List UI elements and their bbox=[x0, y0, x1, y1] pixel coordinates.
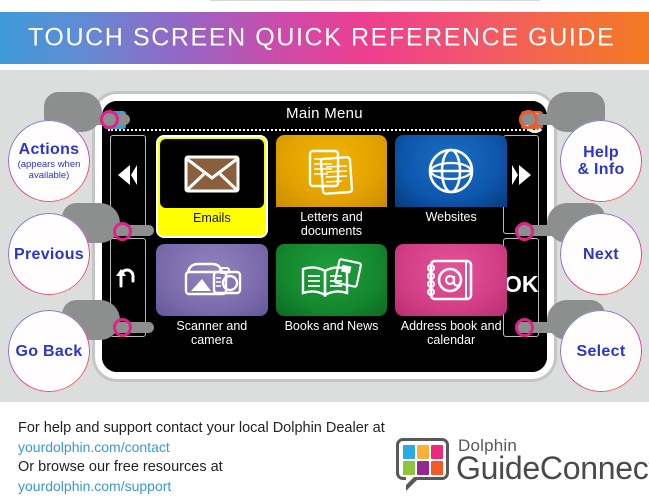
page-title: TOUCH SCREEN QUICK REFERENCE GUIDE bbox=[28, 24, 615, 53]
callout-next: Next bbox=[560, 213, 642, 295]
callout-go-back: Go Back bbox=[8, 310, 90, 392]
target-ring-go-back bbox=[113, 318, 132, 337]
tile-label: Emails bbox=[158, 208, 266, 236]
tile-label: Letters and documents bbox=[276, 207, 388, 238]
logo-swatch-5 bbox=[431, 461, 443, 475]
top-white-strip bbox=[0, 0, 649, 12]
callout-title: Next bbox=[583, 246, 619, 263]
target-ring-previous bbox=[113, 222, 132, 241]
callout-title: Help bbox=[583, 144, 619, 161]
reference-guide-page: TOUCH SCREEN QUICK REFERENCE GUIDE Main … bbox=[0, 0, 649, 502]
logo-swatch-4 bbox=[417, 461, 429, 475]
logo-swatch-3 bbox=[403, 461, 415, 475]
tile-label: Address book and calendar bbox=[395, 316, 507, 347]
device-frame: Main Menu bbox=[95, 94, 554, 379]
main-menu-tile-grid: Emails bbox=[156, 135, 507, 347]
callout-actions: Actions (appears when available) bbox=[8, 120, 90, 202]
guideconnect-logo: Dolphin GuideConnect bbox=[396, 432, 640, 492]
triangle-left-icon bbox=[111, 164, 145, 190]
book-news-icon bbox=[276, 244, 388, 316]
tile-letters-and-documents[interactable]: Letters and documents bbox=[276, 135, 388, 238]
target-ring-select bbox=[515, 318, 534, 337]
logo-swatch-2 bbox=[431, 445, 443, 459]
tile-scanner-and-camera[interactable]: Scanner and camera bbox=[156, 244, 268, 347]
logo-swatch-0 bbox=[403, 445, 415, 459]
tile-websites[interactable]: Websites bbox=[395, 135, 507, 238]
focus-dotted-border bbox=[108, 129, 541, 131]
top-hairline-rule bbox=[210, 0, 540, 1]
logo-bubble-tail bbox=[406, 477, 420, 491]
callout-title: Previous bbox=[14, 246, 84, 263]
tile-emails[interactable]: Emails bbox=[156, 135, 268, 238]
documents-icon bbox=[276, 135, 388, 207]
footer-link-contact[interactable]: yourdolphin.com/contact bbox=[18, 439, 170, 455]
callout-previous: Previous bbox=[8, 213, 90, 295]
scanner-camera-icon bbox=[156, 244, 268, 316]
logo-brand-large: GuideConnect bbox=[456, 450, 649, 487]
globe-icon bbox=[395, 135, 507, 207]
screen-title: Main Menu bbox=[102, 105, 547, 122]
tile-address-book-and-calendar[interactable]: Address book and calendar bbox=[395, 244, 507, 347]
footer-link-support[interactable]: yourdolphin.com/support bbox=[18, 478, 171, 494]
tile-label: Books and News bbox=[276, 316, 388, 347]
undo-arrow-icon bbox=[111, 267, 145, 293]
target-ring-help bbox=[519, 110, 538, 129]
triangle-right-icon bbox=[504, 164, 538, 190]
tile-label: Websites bbox=[395, 207, 507, 238]
tile-label: Scanner and camera bbox=[156, 316, 268, 347]
ok-label: OK bbox=[504, 273, 538, 296]
callout-select: Select bbox=[560, 310, 642, 392]
tile-books-and-news[interactable]: Books and News bbox=[276, 244, 388, 347]
address-book-icon bbox=[395, 244, 507, 316]
target-ring-actions bbox=[100, 110, 119, 129]
callout-help-info: Help & Info bbox=[560, 120, 642, 202]
device-screen: Main Menu bbox=[102, 101, 547, 372]
logo-swatch-1 bbox=[417, 445, 429, 459]
callout-title: Select bbox=[577, 343, 626, 360]
callout-subtitle: (appears when available) bbox=[8, 159, 90, 181]
target-ring-next bbox=[515, 222, 534, 241]
callout-title-2: & Info bbox=[577, 161, 624, 178]
header-banner: TOUCH SCREEN QUICK REFERENCE GUIDE bbox=[0, 12, 649, 64]
footer-line-2: Or browse our free resources at bbox=[18, 459, 223, 475]
envelope-icon bbox=[160, 139, 264, 208]
logo-color-grid bbox=[403, 445, 443, 475]
callout-title: Go Back bbox=[15, 343, 82, 360]
logo-speech-bubble bbox=[396, 438, 449, 480]
callout-title: Actions bbox=[19, 141, 80, 158]
footer-line-1: For help and support contact your local … bbox=[18, 420, 385, 436]
